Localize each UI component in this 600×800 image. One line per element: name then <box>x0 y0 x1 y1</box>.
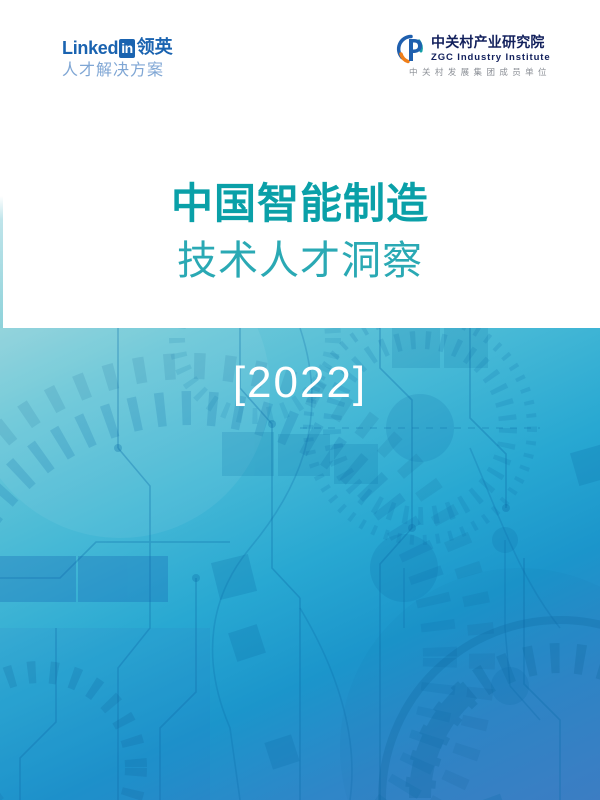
linkedin-logo-wordmark: Linked in 领英 <box>62 38 262 58</box>
zgc-logo-text: 中关村产业研究院 ZGC Industry Institute <box>431 35 551 63</box>
linkedin-chinese-name: 领英 <box>137 39 173 57</box>
report-year: [2022] <box>233 358 367 407</box>
zgc-logo-main: 中关村产业研究院 ZGC Industry Institute <box>396 34 566 64</box>
report-cover-page: Linked in 领英 人才解决方案 中关村产业研究院 <box>0 0 600 800</box>
zgc-emblem-icon <box>396 34 426 64</box>
report-title-line-2: 技术人才洞察 <box>0 236 600 286</box>
zgc-english-name: ZGC Industry Institute <box>431 52 551 63</box>
report-title-line-1: 中国智能制造 <box>0 178 600 230</box>
linkedin-tagline: 人才解决方案 <box>62 61 262 79</box>
report-year-block: [2022] <box>0 358 600 408</box>
cover-header: Linked in 领英 人才解决方案 中关村产业研究院 <box>0 0 600 120</box>
linkedin-in-badge-icon: in <box>119 39 134 58</box>
zgc-logo: 中关村产业研究院 ZGC Industry Institute 中关村发展集团成… <box>396 34 566 79</box>
left-edge-accent-strip <box>0 196 3 328</box>
zgc-chinese-name: 中关村产业研究院 <box>431 36 551 51</box>
zgc-member-line: 中关村发展集团成员单位 <box>396 68 564 79</box>
linkedin-logo: Linked in 领英 人才解决方案 <box>62 38 262 79</box>
linkedin-wordmark-text: Linked <box>62 39 118 57</box>
cover-title-block: 中国智能制造 技术人才洞察 <box>0 178 600 286</box>
